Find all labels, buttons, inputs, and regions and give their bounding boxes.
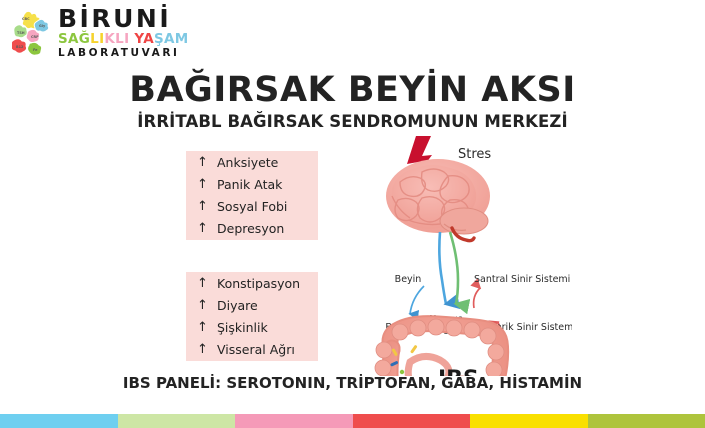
logo-lab-line: LABORATUVARI: [58, 47, 226, 60]
footer-color-bar: [0, 414, 705, 428]
svg-text:Gly: Gly: [39, 24, 46, 28]
arrow-up-icon: ↑: [197, 277, 217, 290]
logo-tagline-letter-9: Y: [134, 31, 143, 47]
logo-tagline-letter-3: L: [90, 31, 99, 47]
page-title: BAĞIRSAK BEYİN AKSI: [0, 70, 705, 110]
gut-brain-axis-diagram: Stres Beyin Santral Sinir Sistemi Bağırs…: [352, 136, 572, 376]
symptom-row: ↑Panik Atak: [186, 173, 318, 195]
ibs-panel-text: IBS PANELİ: SEROTONIN, TRİPTOFAN, GABA, …: [0, 374, 705, 392]
logo-tagline-letter-6: L: [115, 31, 124, 47]
symptom-row: ↑Konstipasyon: [186, 272, 318, 294]
segment-olive: [588, 414, 705, 428]
segment-pink: [235, 414, 353, 428]
puzzle-molecule-icon: CBC Gly TSH CRP B12 Fe: [12, 10, 56, 58]
arrow-up-icon: ↑: [197, 222, 217, 235]
symptom-label: Panik Atak: [217, 177, 282, 192]
brain-label: Beyin: [395, 274, 422, 285]
psychological-symptoms-panel: ↑Anksiyete↑Panik Atak↑Sosyal Fobi↑Depres…: [186, 151, 318, 240]
poster-canvas: CBC Gly TSH CRP B12 Fe BİRUNİ SAĞLIKLI Y…: [0, 0, 705, 428]
brand-logo[interactable]: CBC Gly TSH CRP B12 Fe BİRUNİ SAĞLIKLI Y…: [12, 6, 227, 62]
svg-text:CRP: CRP: [31, 35, 39, 39]
arrow-up-icon: ↑: [197, 299, 217, 312]
symptom-row: ↑Visseral Ağrı: [186, 339, 318, 361]
arrow-up-icon: ↑: [197, 200, 217, 213]
logo-tagline-letter-1: A: [68, 31, 79, 47]
logo-brand-name: BİRUNİ: [58, 6, 226, 32]
arrow-up-icon: ↑: [197, 343, 217, 356]
svg-text:TSH: TSH: [17, 31, 25, 35]
page-subtitle: İRRİTABL BAĞIRSAK SENDROMUNUN MERKEZİ: [0, 112, 705, 131]
gastrointestinal-symptoms-panel: ↑Konstipasyon↑Diyare↑Şişkinlik↑Visseral …: [186, 272, 318, 361]
symptom-row: ↑Anksiyete: [186, 151, 318, 173]
stress-label: Stres: [458, 147, 491, 162]
segment-green: [118, 414, 236, 428]
symptom-row: ↑Şişkinlik: [186, 316, 318, 338]
cns-label: Santral Sinir Sistemi: [474, 274, 570, 285]
symptom-label: Visseral Ağrı: [217, 342, 295, 357]
symptom-label: Konstipasyon: [217, 276, 300, 291]
symptom-label: Şişkinlik: [217, 320, 268, 335]
logo-tagline: SAĞLIKLI YAŞAM: [58, 32, 226, 47]
symptom-label: Sosyal Fobi: [217, 199, 287, 214]
symptom-label: Anksiyete: [217, 155, 278, 170]
segment-blue: [0, 414, 118, 428]
arrow-up-icon: ↑: [197, 178, 217, 191]
arrow-up-icon: ↑: [197, 321, 217, 334]
svg-text:B12: B12: [16, 45, 24, 49]
segment-red: [353, 414, 471, 428]
logo-tagline-letter-13: M: [175, 31, 189, 47]
logo-tagline-letter-0: S: [58, 31, 68, 47]
arrow-up-icon: ↑: [197, 156, 217, 169]
symptom-label: Diyare: [217, 298, 258, 313]
logo-tagline-letter-2: Ğ: [79, 31, 90, 47]
symptom-row: ↑Diyare: [186, 294, 318, 316]
logo-tagline-letter-12: A: [164, 31, 175, 47]
svg-text:CBC: CBC: [22, 17, 30, 21]
symptom-row: ↑Sosyal Fobi: [186, 195, 318, 217]
svg-text:Fe: Fe: [33, 48, 38, 52]
logo-tagline-letter-5: K: [104, 31, 115, 47]
symptom-row: ↑Depresyon: [186, 218, 318, 240]
logo-wordmark: BİRUNİ SAĞLIKLI YAŞAM LABORATUVARI: [58, 6, 226, 60]
logo-tagline-letter-11: Ş: [154, 31, 164, 47]
symptom-label: Depresyon: [217, 221, 284, 236]
logo-tagline-letter-10: A: [143, 31, 154, 47]
segment-yellow: [470, 414, 588, 428]
